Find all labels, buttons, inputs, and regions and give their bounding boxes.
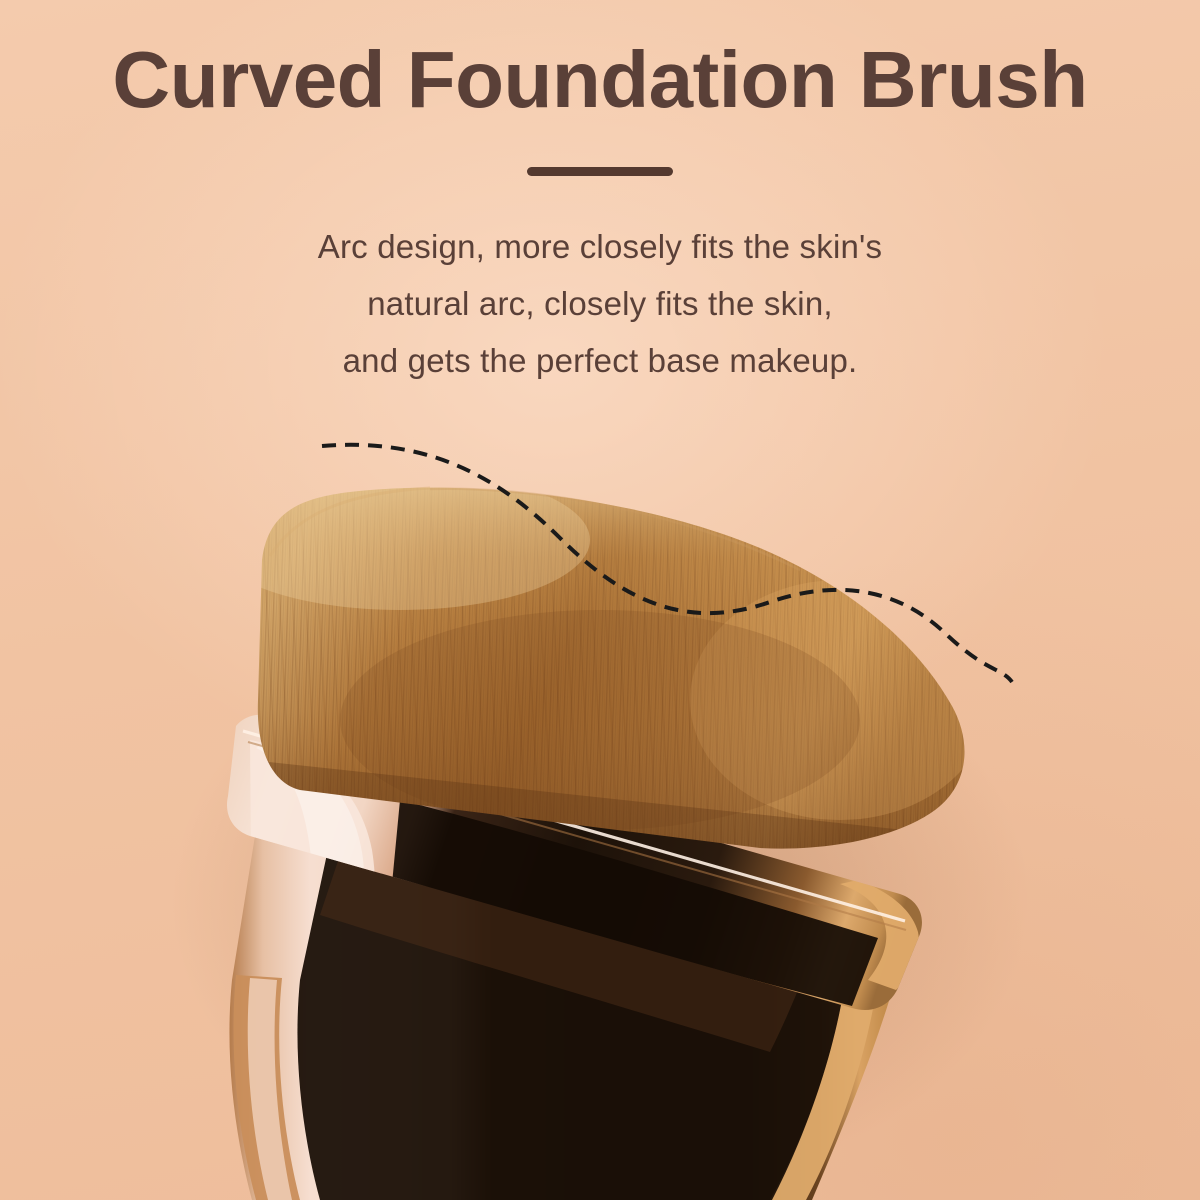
description-line-1: Arc design, more closely fits the skin's (0, 218, 1200, 275)
title-divider (527, 167, 673, 176)
description-line-2: natural arc, closely fits the skin, (0, 275, 1200, 332)
product-description: Arc design, more closely fits the skin's… (0, 218, 1200, 389)
page-title: Curved Foundation Brush (0, 38, 1200, 122)
description-line-3: and gets the perfect base makeup. (0, 332, 1200, 389)
brush-illustration (0, 0, 1200, 1200)
product-banner: Curved Foundation Brush Arc design, more… (0, 0, 1200, 1200)
